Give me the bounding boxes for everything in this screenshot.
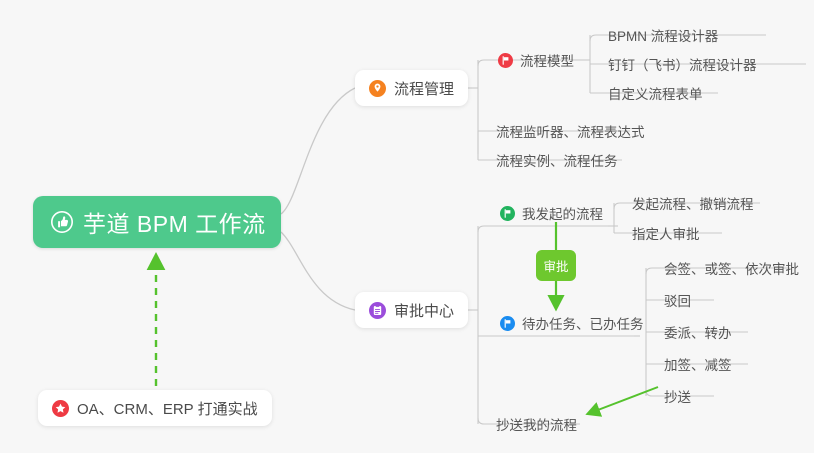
node-bpmn-designer[interactable]: BPMN 流程设计器 bbox=[600, 21, 726, 49]
connector-root-to-process bbox=[281, 88, 355, 214]
node-label: 钉钉（飞书）流程设计器 bbox=[608, 54, 757, 74]
node-label: BPMN 流程设计器 bbox=[608, 25, 718, 45]
node-label: 待办任务、已办任务 bbox=[522, 313, 644, 333]
node-assignee-approval[interactable]: 指定人审批 bbox=[624, 219, 708, 247]
node-cc[interactable]: 抄送 bbox=[656, 382, 699, 410]
node-todo-done-tasks[interactable]: 待办任务、已办任务 bbox=[492, 309, 652, 337]
location-pin-icon bbox=[369, 80, 386, 97]
node-label: 委派、转办 bbox=[664, 322, 732, 342]
node-add-remove-sign[interactable]: 加签、减签 bbox=[656, 350, 740, 378]
node-label: 会签、或签、依次审批 bbox=[664, 258, 799, 278]
node-label: 流程实例、流程任务 bbox=[496, 150, 618, 170]
connector-root-to-approval bbox=[281, 232, 355, 310]
node-process-model[interactable]: 流程模型 bbox=[490, 46, 582, 74]
node-label: 指定人审批 bbox=[632, 223, 700, 243]
node-label: 抄送我的流程 bbox=[496, 414, 577, 434]
node-label: 我发起的流程 bbox=[522, 203, 603, 223]
thumbs-up-icon bbox=[51, 211, 73, 233]
branch-label: 流程管理 bbox=[394, 78, 454, 99]
node-label: 加签、减签 bbox=[664, 354, 732, 374]
node-start-cancel-process[interactable]: 发起流程、撤销流程 bbox=[624, 189, 762, 217]
mindmap-canvas: 芋道 BPM 工作流 流程管理 流程模型 流程监听器、流程表达式 流程实例、流程… bbox=[0, 0, 814, 453]
branch-label: 审批中心 bbox=[394, 300, 454, 321]
star-icon bbox=[52, 400, 69, 417]
flag-icon bbox=[500, 206, 515, 221]
branch-process-management[interactable]: 流程管理 bbox=[355, 70, 468, 106]
arrow-cc-to-ccprocess bbox=[590, 387, 658, 413]
node-dingtalk-feishu-designer[interactable]: 钉钉（飞书）流程设计器 bbox=[600, 50, 765, 78]
node-countersign-or-sequential[interactable]: 会签、或签、依次审批 bbox=[656, 254, 807, 282]
node-process-instance-task[interactable]: 流程实例、流程任务 bbox=[488, 146, 626, 174]
root-label: 芋道 BPM 工作流 bbox=[83, 205, 266, 239]
node-my-initiated-processes[interactable]: 我发起的流程 bbox=[492, 199, 611, 227]
clipboard-icon bbox=[369, 302, 386, 319]
node-label: 流程监听器、流程表达式 bbox=[496, 121, 645, 141]
node-label: 发起流程、撤销流程 bbox=[632, 193, 754, 213]
approval-callout[interactable]: 审批 bbox=[536, 250, 576, 281]
node-delegate-transfer[interactable]: 委派、转办 bbox=[656, 318, 740, 346]
node-label: 自定义流程表单 bbox=[608, 83, 703, 103]
node-integration[interactable]: OA、CRM、ERP 打通实战 bbox=[38, 390, 272, 426]
node-label: 抄送 bbox=[664, 386, 691, 406]
node-reject[interactable]: 驳回 bbox=[656, 286, 699, 314]
callout-label: 审批 bbox=[543, 256, 568, 275]
node-label: OA、CRM、ERP 打通实战 bbox=[77, 398, 258, 419]
node-custom-process-form[interactable]: 自定义流程表单 bbox=[600, 79, 711, 107]
node-label: 流程模型 bbox=[520, 50, 574, 70]
node-process-listener-expression[interactable]: 流程监听器、流程表达式 bbox=[488, 117, 653, 145]
flag-icon bbox=[498, 53, 513, 68]
root-node[interactable]: 芋道 BPM 工作流 bbox=[33, 196, 281, 248]
node-label: 驳回 bbox=[664, 290, 691, 310]
flag-icon bbox=[500, 316, 515, 331]
branch-approval-center[interactable]: 审批中心 bbox=[355, 292, 468, 328]
node-cc-to-me-processes[interactable]: 抄送我的流程 bbox=[488, 410, 585, 438]
